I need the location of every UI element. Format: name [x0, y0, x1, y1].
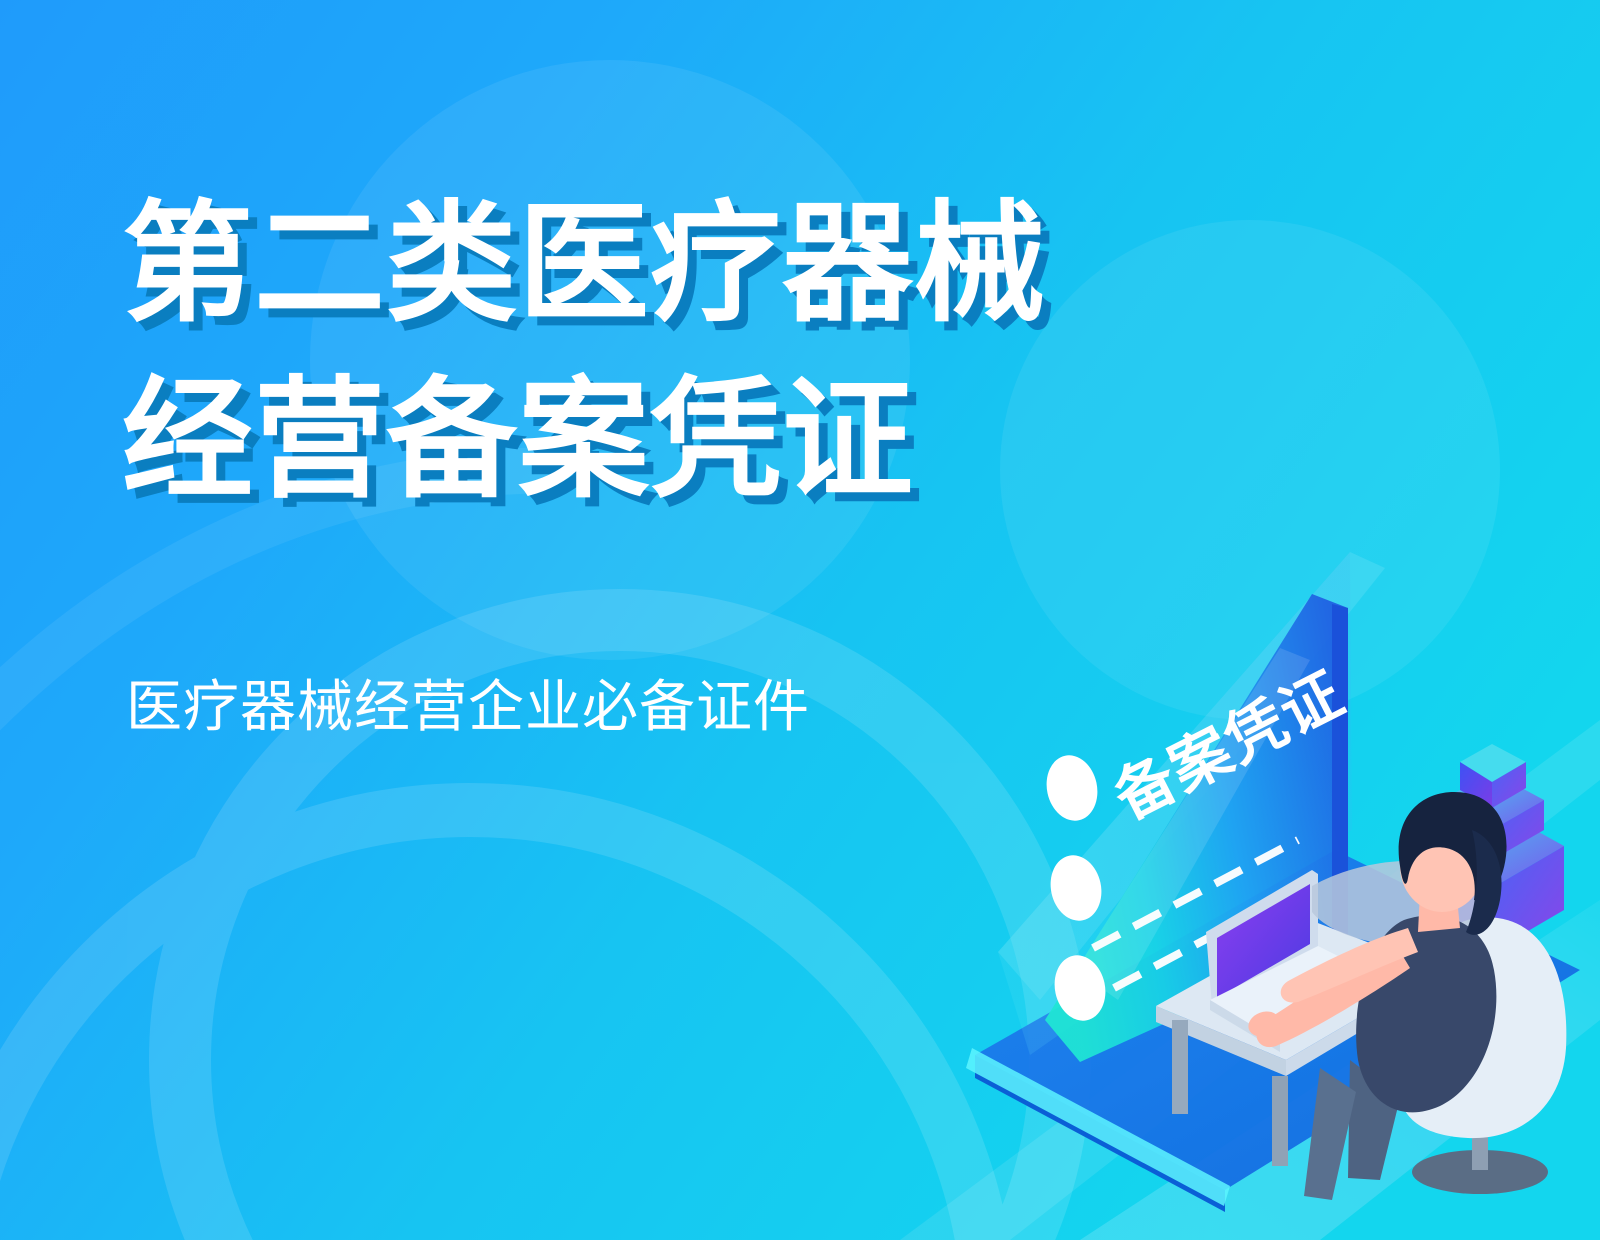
headline-block: 第二类医疗器械 经营备案凭证: [122, 176, 1046, 527]
promo-banner: 第二类医疗器械 经营备案凭证 医疗器械经营企业必备证件: [0, 0, 1600, 1240]
subtitle-text: 医疗器械经营企业必备证件: [126, 673, 810, 740]
isometric-illustration: 备案凭证: [880, 500, 1600, 1240]
title-line-2: 经营备案凭证: [122, 352, 1046, 528]
bullet-dot: [1041, 751, 1104, 826]
title-line-1: 第二类医疗器械: [122, 176, 1046, 352]
desk-leg: [1172, 1020, 1188, 1114]
desk-leg: [1272, 1076, 1288, 1166]
